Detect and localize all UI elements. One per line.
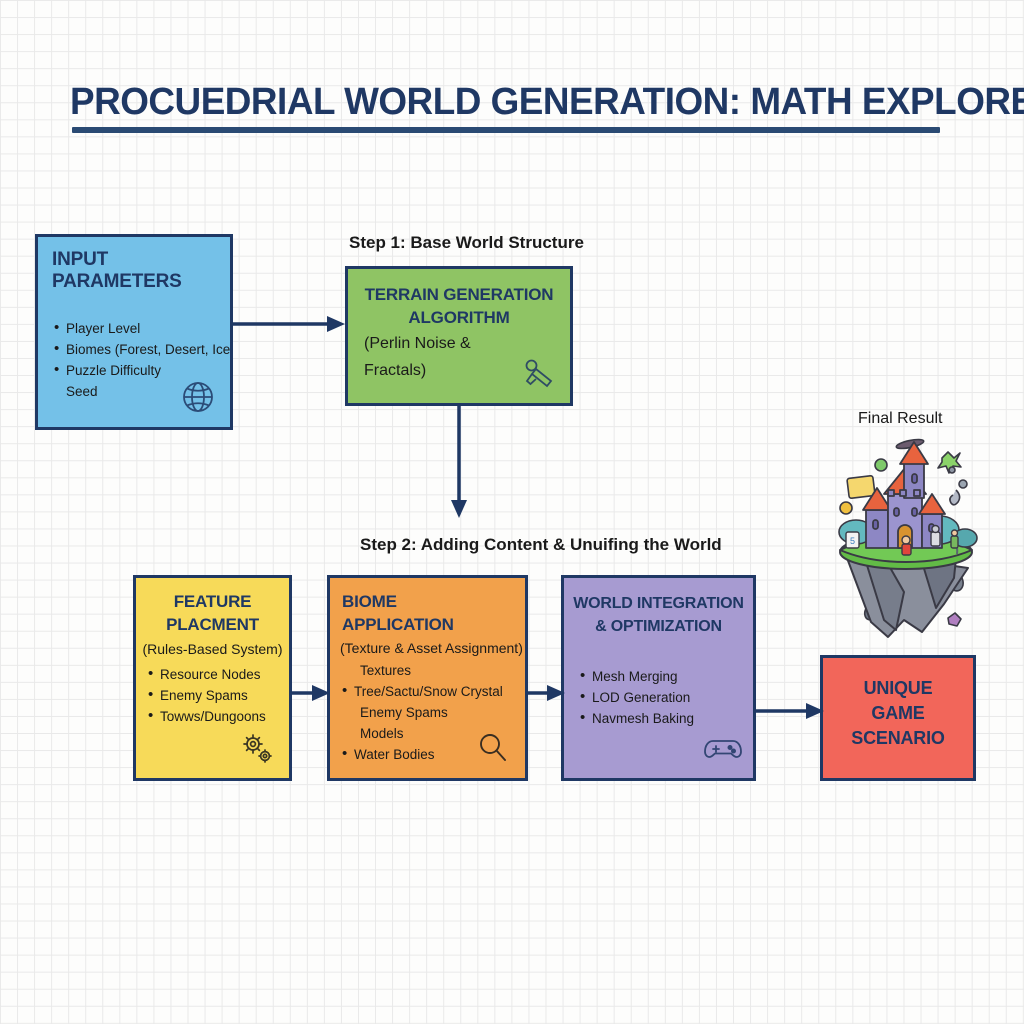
- list-item: Enemy Spams: [340, 702, 525, 723]
- node-terrain-generation[interactable]: TERRAIN GENERATION ALGORITHM (Perlin Noi…: [345, 266, 573, 406]
- list-item: Towws/Dungoons: [146, 706, 289, 727]
- arrow-world-to-unique: [754, 700, 826, 722]
- node-feature-heading: FEATURE PLACMENT: [142, 590, 283, 636]
- arrow-terrain-to-step2: [448, 404, 472, 520]
- globe-icon: [178, 377, 220, 419]
- arrow-biome-to-world: [525, 682, 567, 704]
- node-feature-heading-line2: PLACMENT: [142, 613, 283, 636]
- node-world-integration[interactable]: WORLD INTEGRATION & OPTIMIZATION Mesh Me…: [561, 575, 756, 781]
- diagram-canvas: PROCUEDRIAL WORLD GENERATION: MATH EXPLO…: [0, 0, 1024, 1024]
- node-biome-sub: (Texture & Asset Assignment): [340, 637, 525, 659]
- node-unique-heading-line2: GAME: [823, 701, 973, 726]
- list-item: Biomes (Forest, Desert, Ice: [52, 339, 230, 360]
- node-feature-sub: (Rules-Based System): [136, 638, 289, 660]
- arrow-feature-to-biome: [290, 682, 332, 704]
- floating-island-castle-illustration: 5: [826, 432, 996, 642]
- step-2-label: Step 2: Adding Content & Unuifing the Wo…: [360, 535, 722, 555]
- node-unique-heading-line3: SCENARIO: [823, 726, 973, 751]
- node-world-heading-line1: WORLD INTEGRATION: [572, 592, 745, 615]
- final-result-label: Final Result: [858, 410, 942, 428]
- page-title: PROCUEDRIAL WORLD GENERATION: MATH EXPLO…: [70, 80, 924, 124]
- node-unique-heading-line1: UNIQUE: [823, 676, 973, 701]
- node-biome-heading: BIOME APPLICATION: [342, 590, 525, 636]
- title-underline-rule: [72, 127, 940, 133]
- list-item: Mesh Merging: [578, 666, 753, 687]
- title-block: PROCUEDRIAL WORLD GENERATION: MATH EXPLO…: [70, 80, 950, 124]
- list-item: LOD Generation: [578, 687, 753, 708]
- list-item: Textures: [340, 660, 525, 681]
- node-terrain-heading-line2: ALGORITHM: [362, 306, 556, 329]
- list-item: Player Level: [52, 318, 230, 339]
- node-input-parameters[interactable]: INPUT PARAMETERS Player Level Biomes (Fo…: [35, 234, 233, 430]
- gears-icon: [237, 728, 279, 770]
- paintbrush-icon: [518, 353, 560, 395]
- svg-text:5: 5: [850, 536, 855, 546]
- node-unique-heading: UNIQUE GAME SCENARIO: [823, 676, 973, 751]
- node-unique-game-scenario[interactable]: UNIQUE GAME SCENARIO: [820, 655, 976, 781]
- node-input-heading: INPUT PARAMETERS: [52, 249, 230, 293]
- list-item: Navmesh Baking: [578, 708, 753, 729]
- list-item: Tree/Sactu/Snow Crystal: [340, 681, 525, 702]
- step-1-label: Step 1: Base World Structure: [349, 233, 584, 253]
- node-feature-heading-line1: FEATURE: [142, 590, 283, 613]
- arrow-input-to-terrain: [231, 313, 349, 335]
- node-terrain-heading: TERRAIN GENERATION ALGORITHM: [362, 283, 556, 329]
- list-item: Resource Nodes: [146, 664, 289, 685]
- node-biome-heading-line2: APPLICATION: [342, 613, 525, 636]
- magnifier-icon: [473, 728, 515, 770]
- node-biome-heading-line1: BIOME: [342, 590, 525, 613]
- node-world-heading-line2: & OPTIMIZATION: [572, 615, 745, 638]
- gamepad-icon: [701, 728, 743, 770]
- node-feature-placement[interactable]: FEATURE PLACMENT (Rules-Based System) Re…: [133, 575, 292, 781]
- node-world-list: Mesh Merging LOD Generation Navmesh Baki…: [578, 666, 753, 729]
- node-world-heading: WORLD INTEGRATION & OPTIMIZATION: [572, 592, 745, 638]
- node-feature-list: Resource Nodes Enemy Spams Towws/Dungoon…: [146, 664, 289, 727]
- list-item: Enemy Spams: [146, 685, 289, 706]
- node-biome-application[interactable]: BIOME APPLICATION (Texture & Asset Assig…: [327, 575, 528, 781]
- node-terrain-heading-line1: TERRAIN GENERATION: [362, 283, 556, 306]
